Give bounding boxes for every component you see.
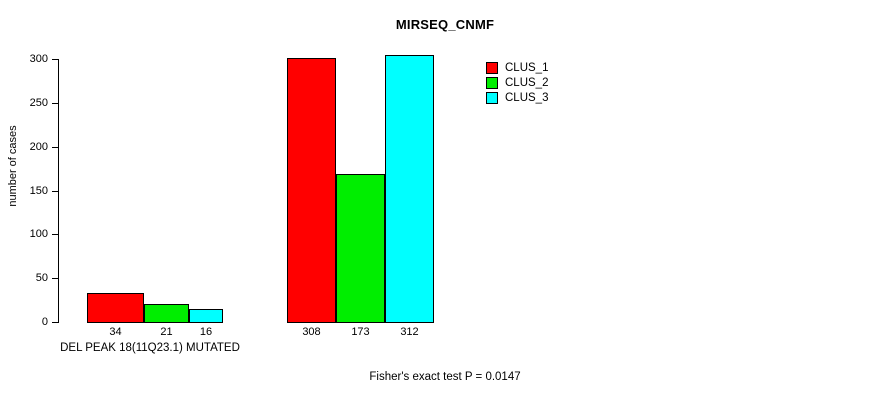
legend: CLUS_1 CLUS_2 CLUS_3 [486,60,548,105]
bar-value-group1-clus2: 21 [144,326,189,338]
legend-label-clus1: CLUS_1 [505,62,548,74]
y-axis-line [58,59,59,323]
legend-item-clus2: CLUS_2 [486,75,548,90]
bar-group2-clus1 [287,58,336,323]
bar-value-group2-clus2: 173 [336,326,385,338]
bar-value-group1-clus1: 34 [87,326,144,338]
bar-group1-clus2 [144,304,189,323]
y-tick-label-200: 200 [22,141,48,153]
y-tick-0 [52,322,58,323]
y-tick-50 [52,278,58,279]
group-label-del-peak: DEL PEAK 18(11Q23.1) MUTATED [35,342,265,355]
y-tick-150 [52,191,58,192]
y-tick-label-0: 0 [22,316,48,328]
y-tick-250 [52,103,58,104]
chart-title: MIRSEQ_CNMF [0,17,890,32]
bar-value-group1-clus3: 16 [189,326,223,338]
y-axis-title: number of cases [7,111,19,221]
legend-item-clus1: CLUS_1 [486,60,548,75]
bar-group1-clus1 [87,293,144,323]
y-tick-label-100: 100 [22,228,48,240]
y-tick-200 [52,147,58,148]
legend-swatch-icon-clus1 [486,62,498,74]
bar-value-group2-clus3: 312 [385,326,434,338]
bar-group2-clus3 [385,55,434,323]
bar-value-group2-clus1: 308 [287,326,336,338]
y-tick-label-250: 250 [22,97,48,109]
legend-label-clus3: CLUS_3 [505,92,548,104]
legend-label-clus2: CLUS_2 [505,77,548,89]
fisher-test-annotation: Fisher's exact test P = 0.0147 [0,371,890,383]
legend-swatch-icon-clus2 [486,77,498,89]
y-tick-label-150: 150 [22,185,48,197]
legend-item-clus3: CLUS_3 [486,90,548,105]
y-tick-label-300: 300 [22,53,48,65]
y-tick-100 [52,234,58,235]
bar-group2-clus2 [336,174,385,323]
chart-canvas: MIRSEQ_CNMF 0 50 100 150 200 250 300 num… [0,0,890,400]
legend-swatch-icon-clus3 [486,92,498,104]
bar-group1-clus3 [189,309,223,323]
y-tick-label-50: 50 [22,272,48,284]
y-tick-300 [52,59,58,60]
